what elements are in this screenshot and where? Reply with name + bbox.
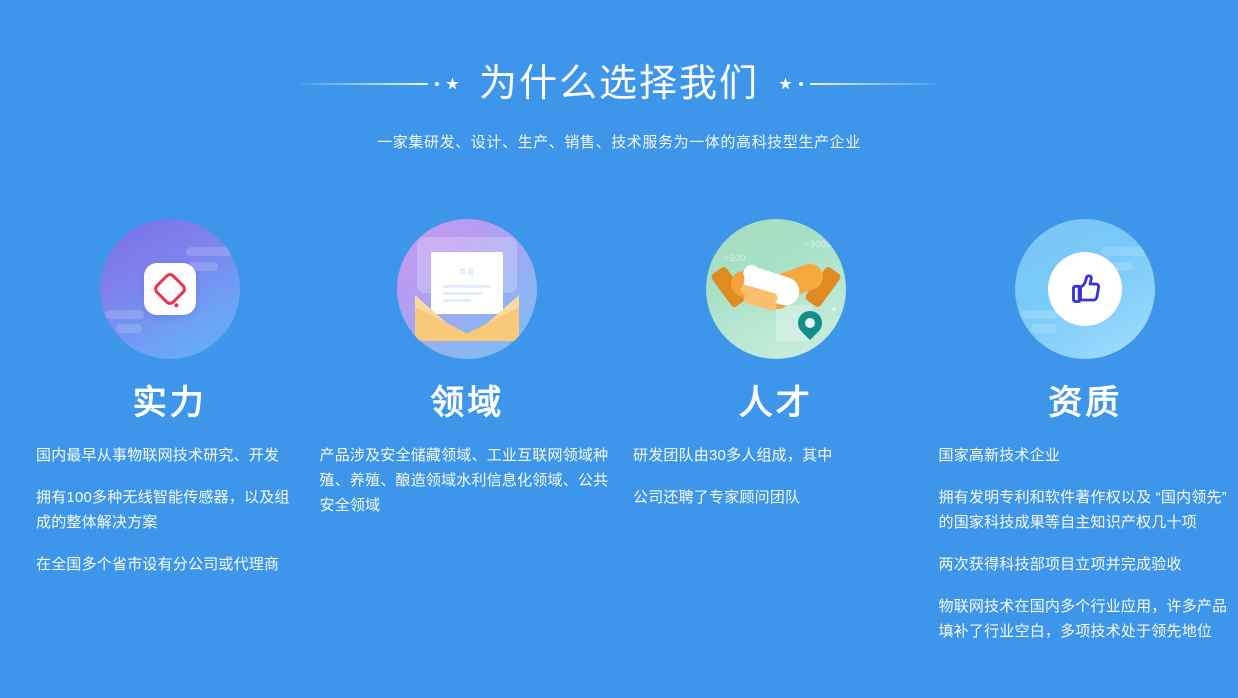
letter-title-text: 恭喜	[459, 267, 475, 277]
diamond-badge-icon	[144, 263, 196, 315]
speed-line-decoration	[188, 262, 218, 271]
badge-count-right: +3000	[804, 239, 832, 249]
speed-line-decoration	[1019, 310, 1059, 319]
feature-column-domains: 恭喜 领域 产品涉及安全储藏领域、工业互联网领域种殖、养殖、酿造领域水利信息化领…	[310, 205, 620, 518]
column-body-talent: 研发团队由30多人组成，其中 公司还聘了专家顾问团队	[633, 443, 919, 510]
badge-count-left: +500	[724, 253, 746, 263]
handshake-icon: +500 +3000 +1000	[714, 237, 838, 341]
feature-text: 公司还聘了专家顾问团队	[633, 485, 919, 510]
column-heading-talent: 人才	[633, 383, 919, 423]
icon-container	[939, 205, 1233, 373]
column-heading-qualifications: 资质	[939, 383, 1233, 423]
decoration-star-icon	[779, 78, 792, 91]
icon-container	[36, 205, 304, 373]
icon-circle-strength	[100, 219, 240, 359]
decoration-dot-icon	[799, 82, 803, 86]
icon-container: 恭喜	[320, 205, 616, 373]
feature-text: 在全国多个省市设有分公司或代理商	[36, 552, 304, 577]
speed-line-decoration	[1101, 247, 1147, 256]
diamond-outline-shape	[151, 271, 188, 308]
feature-column-strength: 实力 国内最早从事物联网技术研究、开发 拥有100多种无线智能传感器，以及组成的…	[0, 205, 310, 577]
decoration-star-icon	[446, 78, 459, 91]
speed-line-decoration	[1031, 324, 1057, 333]
feature-text: 物联网技术在国内多个行业应用，许多产品填补了行业空白，多项技术处于领先地位	[939, 594, 1233, 644]
feature-column-talent: +500 +3000 +1000	[619, 205, 929, 510]
feature-text: 国家高新技术企业	[939, 443, 1233, 468]
title-decoration-left	[300, 74, 459, 94]
diamond-dot-shape	[174, 303, 178, 307]
feature-text: 国内最早从事物联网技术研究、开发	[36, 443, 304, 468]
section-header: 为什么选择我们 一家集研发、设计、生产、销售、技术服务为一体的高科技型生产企业	[0, 0, 1238, 154]
envelope-letter-icon: 恭喜	[413, 237, 521, 341]
page-subtitle: 一家集研发、设计、生产、销售、技术服务为一体的高科技型生产企业	[0, 132, 1238, 154]
thumbs-up-icon	[1065, 269, 1105, 309]
decoration-line-icon	[300, 83, 428, 85]
feature-text: 拥有100多种无线智能传感器，以及组成的整体解决方案	[36, 485, 304, 535]
column-body-strength: 国内最早从事物联网技术研究、开发 拥有100多种无线智能传感器，以及组成的整体解…	[36, 443, 304, 577]
decoration-dot-icon	[435, 82, 439, 86]
feature-text: 研发团队由30多人组成，其中	[633, 443, 919, 468]
title-row: 为什么选择我们	[0, 58, 1238, 110]
feature-text: 两次获得科技部项目立项并完成验收	[939, 552, 1233, 577]
title-decoration-right	[779, 74, 938, 94]
feature-columns: 实力 国内最早从事物联网技术研究、开发 拥有100多种无线智能传感器，以及组成的…	[0, 205, 1238, 644]
speed-line-decoration	[186, 247, 232, 256]
speed-line-decoration	[1103, 262, 1133, 271]
feature-text: 产品涉及安全储藏领域、工业互联网领域种殖、养殖、酿造领域水利信息化领域、公共安全…	[320, 443, 616, 518]
column-heading-domains: 领域	[320, 383, 616, 423]
speed-line-decoration	[116, 324, 142, 333]
column-heading-strength: 实力	[36, 383, 304, 423]
feature-column-qualifications: 资质 国家高新技术企业 拥有发明专利和软件著作权以及 “国内领先” 的国家科技成…	[929, 205, 1238, 644]
speed-line-decoration	[104, 310, 144, 319]
icon-circle-qualifications	[1015, 219, 1155, 359]
bubble-decoration	[832, 307, 836, 311]
decoration-line-icon	[810, 83, 938, 85]
page-title: 为什么选择我们	[459, 58, 779, 110]
icon-circle-talent: +500 +3000 +1000	[706, 219, 846, 359]
icon-circle-domains: 恭喜	[397, 219, 537, 359]
column-body-qualifications: 国家高新技术企业 拥有发明专利和软件著作权以及 “国内领先” 的国家科技成果等自…	[939, 443, 1233, 644]
icon-container: +500 +3000 +1000	[633, 205, 919, 373]
feature-text: 拥有发明专利和软件著作权以及 “国内领先” 的国家科技成果等自主知识产权几十项	[939, 485, 1233, 535]
column-body-domains: 产品涉及安全储藏领域、工业互联网领域种殖、养殖、酿造领域水利信息化领域、公共安全…	[320, 443, 616, 518]
